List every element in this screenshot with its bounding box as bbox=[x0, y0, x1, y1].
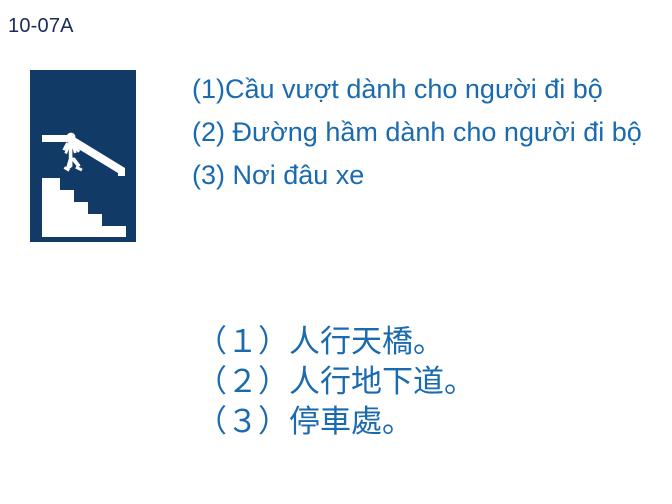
vietnamese-line-2: (2) Đường hầm dành cho người đi bộ bbox=[192, 115, 644, 149]
vietnamese-text-block: (1)Cầu vượt dành cho người đi bộ (2) Đườ… bbox=[192, 72, 644, 192]
page-title: 10-07A bbox=[8, 14, 74, 38]
chinese-line-3: （３）停車處。 bbox=[196, 402, 648, 442]
vietnamese-line-1: (1)Cầu vượt dành cho người đi bộ bbox=[192, 72, 644, 106]
pedestrian-overpass-stairs-sign-graphic bbox=[30, 70, 136, 242]
pedestrian-overpass-stairs-sign bbox=[30, 70, 136, 242]
vietnamese-line-3: (3) Nơi đâu xe bbox=[192, 158, 644, 192]
chinese-line-2: （２）人行地下道。 bbox=[196, 362, 648, 402]
chinese-text-block: （１）人行天橋。 （２）人行地下道。 （３）停車處。 bbox=[196, 322, 648, 442]
slide-canvas: 10-07A (1)Cầu vượt dành cho người đi bộ bbox=[0, 0, 672, 504]
chinese-line-1: （１）人行天橋。 bbox=[196, 322, 648, 362]
